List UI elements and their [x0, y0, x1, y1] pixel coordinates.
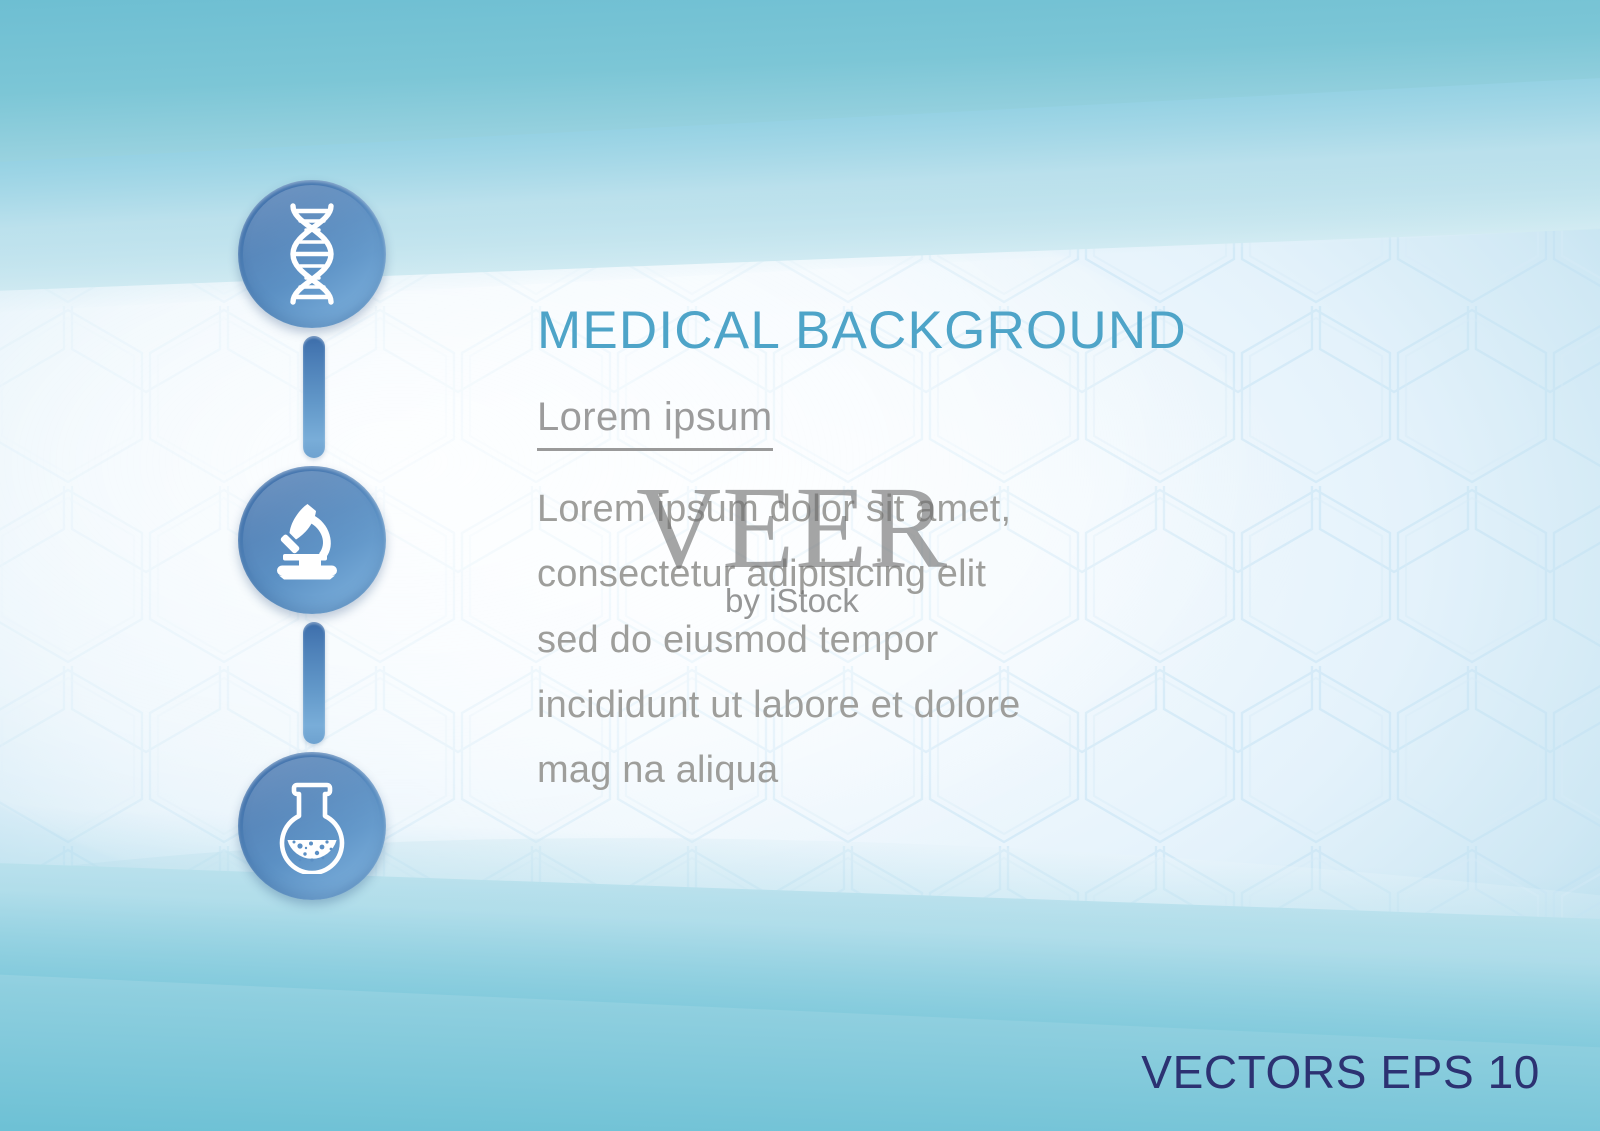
content-block: MEDICAL BACKGROUND Lorem ipsum Lorem ips… [537, 300, 1297, 804]
icon-timeline [238, 180, 390, 900]
body-line: sed do eiusmod tempor [537, 608, 1297, 673]
body-line: consectetur adipisicing elit [537, 542, 1297, 607]
page-title: MEDICAL BACKGROUND [537, 300, 1297, 361]
body-line: Lorem ipsum dolor sit amet, [537, 477, 1297, 542]
body-line: incididunt ut labore et dolore [537, 673, 1297, 738]
subtitle: Lorem ipsum [537, 395, 773, 451]
flask-icon [275, 778, 349, 874]
dna-helix-icon [276, 202, 348, 306]
timeline-connector [303, 336, 325, 458]
microscope-icon [269, 497, 355, 583]
timeline-node-microscope[interactable] [238, 466, 386, 614]
body-paragraph: Lorem ipsum dolor sit amet, consectetur … [537, 477, 1297, 804]
format-tag: VECTORS EPS 10 [1141, 1045, 1540, 1099]
body-line: mag na aliqua [537, 738, 1297, 803]
timeline-connector [303, 622, 325, 744]
timeline-node-flask[interactable] [238, 752, 386, 900]
timeline-node-dna[interactable] [238, 180, 386, 328]
medical-background-poster: MEDICAL BACKGROUND Lorem ipsum Lorem ips… [0, 0, 1600, 1131]
subtitle-wrapper: Lorem ipsum [537, 395, 1297, 451]
